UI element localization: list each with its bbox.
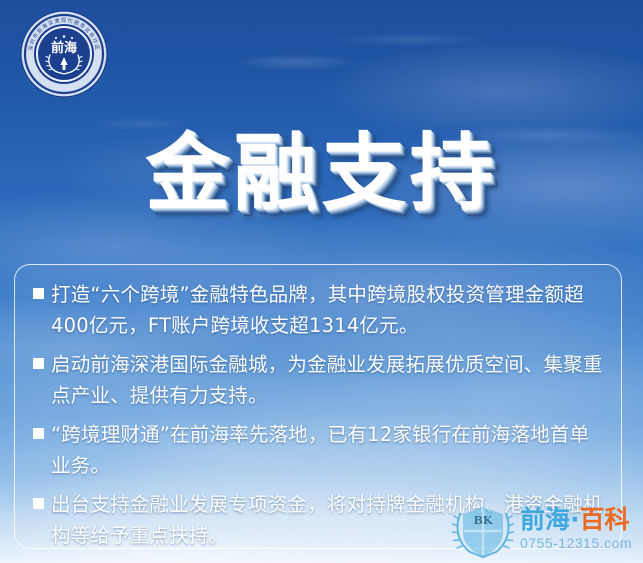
square-bullet-icon [33,498,44,509]
highlights-list: 打造“六个跨境”金融特色品牌，其中跨境股权投资管理金额超400亿元，FT账户跨境… [27,279,605,551]
square-bullet-icon [33,428,44,439]
list-item-text: “跨境理财通”在前海率先落地，已有12家银行在前海落地首单业务。 [51,419,605,481]
list-item: 出台支持金融业发展专项资金，将对持牌金融机构、港资金融机构等给予重点扶持。 [27,489,605,551]
list-item: “跨境理财通”在前海率先落地，已有12家银行在前海落地首单业务。 [27,419,605,481]
svg-text:前海: 前海 [51,40,77,56]
list-item-text: 启动前海深港国际金融城，为金融业发展拓展优质空间、集聚重点产业、提供有力支持。 [51,349,605,411]
square-bullet-icon [33,358,44,369]
poster-canvas: 深圳市前海深港现代服务业合作区 QIANHAI 前海 [0,0,643,563]
list-item-text: 出台支持金融业发展专项资金，将对持牌金融机构、港资金融机构等给予重点扶持。 [51,489,605,551]
list-item: 启动前海深港国际金融城，为金融业发展拓展优质空间、集聚重点产业、提供有力支持。 [27,349,605,411]
qianhai-seal-emblem-icon: 深圳市前海深港现代服务业合作区 QIANHAI 前海 [19,9,109,99]
highlights-panel: 打造“六个跨境”金融特色品牌，其中跨境股权投资管理金额超400亿元，FT账户跨境… [14,264,622,549]
list-item: 打造“六个跨境”金融特色品牌，其中跨境股权投资管理金额超400亿元，FT账户跨境… [27,279,605,341]
square-bullet-icon [33,288,44,299]
list-item-text: 打造“六个跨境”金融特色品牌，其中跨境股权投资管理金额超400亿元，FT账户跨境… [51,279,605,341]
page-title: 金融支持 [0,131,643,215]
